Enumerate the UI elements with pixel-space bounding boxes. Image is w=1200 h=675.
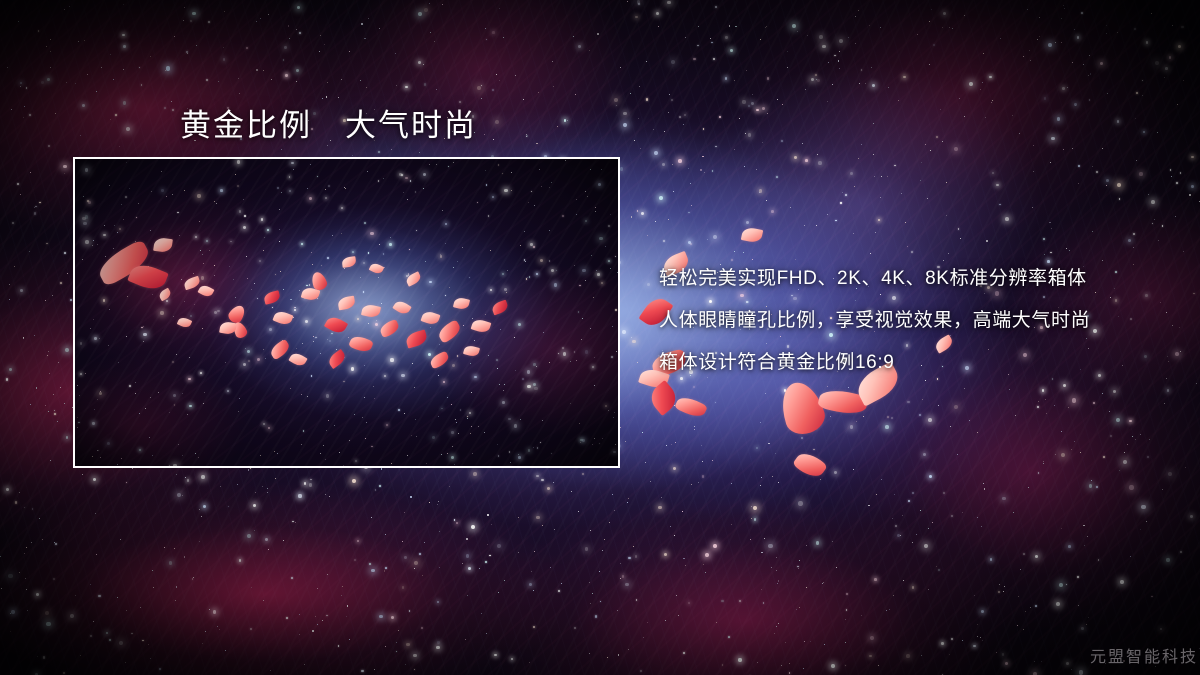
star [785,642,786,643]
star [140,607,141,608]
star [951,515,953,517]
star [897,534,900,537]
star [385,646,386,647]
star [982,82,983,83]
star [827,214,828,215]
star [628,498,629,499]
star [347,605,348,606]
star [248,469,249,470]
star [940,109,941,110]
star [901,193,902,194]
star [60,387,61,388]
star [166,66,170,70]
star [1132,436,1133,437]
star [912,492,914,494]
star [907,401,909,403]
star [999,584,1000,585]
star [288,25,289,26]
star [887,416,889,418]
star [113,79,114,80]
star [184,556,185,557]
star [986,240,987,241]
star [123,45,126,48]
star [1,588,2,589]
star [384,570,385,571]
star [751,506,752,507]
star [1049,222,1050,223]
star [437,641,439,643]
star [289,38,290,39]
star [816,225,817,226]
star [66,436,69,439]
star [664,553,667,556]
star [299,614,300,615]
star [251,587,252,588]
star [34,212,36,214]
star [907,246,908,247]
star [558,590,560,592]
star [623,123,627,127]
star [349,639,350,640]
star [20,86,21,87]
star [404,512,405,513]
star [673,191,674,192]
star [70,614,74,618]
star [1196,383,1197,384]
star [798,568,799,569]
star [1146,521,1147,522]
star [799,607,800,608]
star [296,69,299,72]
star [839,51,840,52]
star [673,467,676,470]
star [870,636,874,640]
star [169,561,173,565]
star [1135,439,1136,440]
star [1045,399,1046,400]
star [561,583,562,584]
star [1154,219,1155,220]
star [385,567,387,569]
star [360,80,361,81]
star [402,586,405,589]
star [712,170,714,172]
star [1033,672,1037,675]
star [850,172,853,175]
star [640,670,642,672]
star [1063,384,1067,388]
star [95,513,96,514]
star [756,109,759,112]
star [338,97,339,98]
star [775,453,776,454]
star [9,368,12,371]
star [620,67,621,68]
star [622,330,626,334]
star [1077,36,1080,39]
star [881,479,882,480]
star [868,505,869,506]
star [1181,26,1183,28]
star [698,26,699,27]
star [554,529,555,530]
star [875,232,876,233]
star [797,566,799,568]
star [894,165,896,167]
star [589,582,590,583]
star [1066,662,1069,665]
star [827,101,828,102]
star [806,545,807,546]
star [48,351,49,352]
star [419,152,420,153]
star [835,220,837,222]
star [949,27,950,28]
star [1119,470,1120,471]
star [599,571,600,572]
star [126,610,127,611]
star [45,405,46,406]
star [688,241,691,244]
star [176,586,177,587]
star [228,506,230,508]
star [878,665,879,666]
star [669,94,670,95]
star [1096,486,1098,488]
star [794,156,797,159]
star [688,212,690,214]
star [1119,198,1121,200]
star [1064,8,1065,9]
star [942,27,943,28]
star [713,58,715,60]
star [298,494,301,497]
star [256,69,257,70]
star [50,460,51,461]
star [582,473,584,475]
star [948,253,949,254]
star [361,670,363,672]
star [690,183,691,184]
star [82,474,83,475]
star [217,626,218,627]
star [618,654,619,655]
flower-petal [792,448,828,482]
star [637,0,640,3]
star [205,631,206,632]
star [936,566,937,567]
star [916,534,917,535]
star [765,27,766,28]
star [958,228,960,230]
star [396,651,398,653]
star [664,131,665,132]
star [275,478,276,479]
star [317,624,318,625]
star [538,92,539,93]
star [1012,115,1013,116]
panel-vignette [73,157,620,468]
star [80,135,81,136]
star [1088,617,1089,618]
star [754,518,757,521]
star [996,652,997,653]
star [106,632,109,635]
star [691,205,692,206]
star [787,51,788,52]
star [872,84,875,87]
star [9,284,10,285]
star [1003,591,1004,592]
star [327,574,328,575]
framed-preview-image[interactable] [73,157,620,468]
star [494,654,497,657]
star [110,119,111,120]
star [1129,485,1133,489]
star [1017,625,1018,626]
star [715,402,717,404]
star [1066,248,1067,249]
star [878,219,880,221]
star [486,633,487,634]
star [498,592,499,593]
star [928,418,932,422]
star [802,143,803,144]
star [529,662,530,663]
star [267,488,268,489]
star [60,282,62,284]
body-line: 轻松完美实现FHD、2K、4K、8K标准分辨率箱体 [659,258,1179,300]
star [115,114,117,116]
star [20,289,23,292]
star [429,502,430,503]
star [746,70,747,71]
flower-petal [741,226,763,244]
star [268,549,269,550]
star [325,494,326,495]
star [853,233,854,234]
star [152,570,153,571]
star [760,39,761,40]
star [658,26,659,27]
star [1071,449,1072,450]
star [761,552,762,553]
star [685,565,686,566]
star [943,492,945,494]
star [413,654,417,658]
star [694,429,695,430]
star [684,114,686,116]
star [117,597,118,598]
star [1142,80,1144,82]
star [491,524,492,525]
star [192,12,196,16]
star [846,609,848,611]
star [1180,551,1182,553]
star [404,556,407,559]
star [1063,5,1064,6]
star [949,654,950,655]
star [120,539,121,540]
star [12,222,14,224]
star [631,216,632,217]
star [550,567,551,568]
star [845,619,846,620]
star [46,622,50,626]
star [678,159,682,163]
star [1092,231,1093,232]
star [739,600,741,602]
star [438,501,439,502]
star [573,36,574,37]
star [1185,467,1186,468]
star [592,593,593,594]
star [712,460,713,461]
star [47,78,50,81]
star [894,494,895,495]
star [466,538,467,539]
star [529,583,532,586]
star [19,492,20,493]
star [1000,38,1001,39]
page-title: 黄金比例 大气时尚 [180,100,477,145]
star [1087,536,1088,537]
star [693,58,695,60]
star [0,556,1,557]
star [1106,185,1107,186]
star [853,469,854,470]
star [828,62,829,63]
star [436,646,439,649]
star [109,639,111,641]
star [54,542,55,543]
star [650,481,651,482]
star [477,86,481,90]
star [977,517,978,518]
star [1180,351,1181,352]
star [1136,160,1137,161]
star [571,491,572,492]
star [917,34,918,35]
star [534,551,535,552]
star [1035,555,1039,559]
star [745,133,746,134]
star [683,558,684,559]
star [1096,171,1098,173]
star [50,67,51,68]
star [842,192,843,193]
star [912,586,915,589]
star [776,557,777,558]
star [641,212,644,215]
star [481,98,482,99]
star [1083,525,1084,526]
star [187,479,189,481]
star [1078,605,1079,606]
star [65,348,69,352]
star [225,650,226,651]
star [766,200,767,201]
star [39,202,41,204]
star [1071,669,1072,670]
star [816,79,817,80]
star [1074,441,1075,442]
star [182,495,183,496]
star [834,471,837,474]
star [964,116,965,117]
star [93,621,94,622]
star [1171,176,1172,177]
star [126,127,130,131]
star [817,154,818,155]
star [902,515,903,516]
star [1199,201,1200,202]
star [385,534,386,535]
flower-petal [775,377,829,439]
star [1165,67,1168,70]
star [1059,583,1063,587]
star [553,482,554,483]
star [830,416,831,417]
star [977,624,978,625]
star [748,105,750,107]
star [761,589,762,590]
star [1116,418,1120,422]
star [34,335,35,336]
star [767,77,769,79]
star [1106,25,1107,26]
star [150,56,151,57]
star [434,41,435,42]
star [959,98,960,99]
star [515,75,516,76]
star [929,475,932,478]
star [762,142,763,143]
star [637,362,638,363]
star [1149,439,1150,440]
star [495,120,499,124]
star [1143,131,1145,133]
star [1072,398,1076,402]
star [1092,166,1093,167]
star [190,20,192,22]
star [1072,62,1073,63]
star [881,176,882,177]
star [819,35,823,39]
star [80,655,81,656]
star [256,21,257,22]
star [1151,13,1152,14]
star [1177,104,1178,105]
star [101,67,102,68]
star [1100,62,1103,65]
star [801,437,803,439]
star [283,59,285,61]
star [822,45,826,49]
star [63,672,65,674]
star [1148,194,1149,195]
star [804,225,805,226]
star [69,6,70,7]
star [932,522,933,523]
star [575,94,576,95]
star [861,615,862,616]
star [90,584,91,585]
star [26,547,27,548]
star [11,109,12,110]
star [895,525,897,527]
star [1168,472,1172,476]
